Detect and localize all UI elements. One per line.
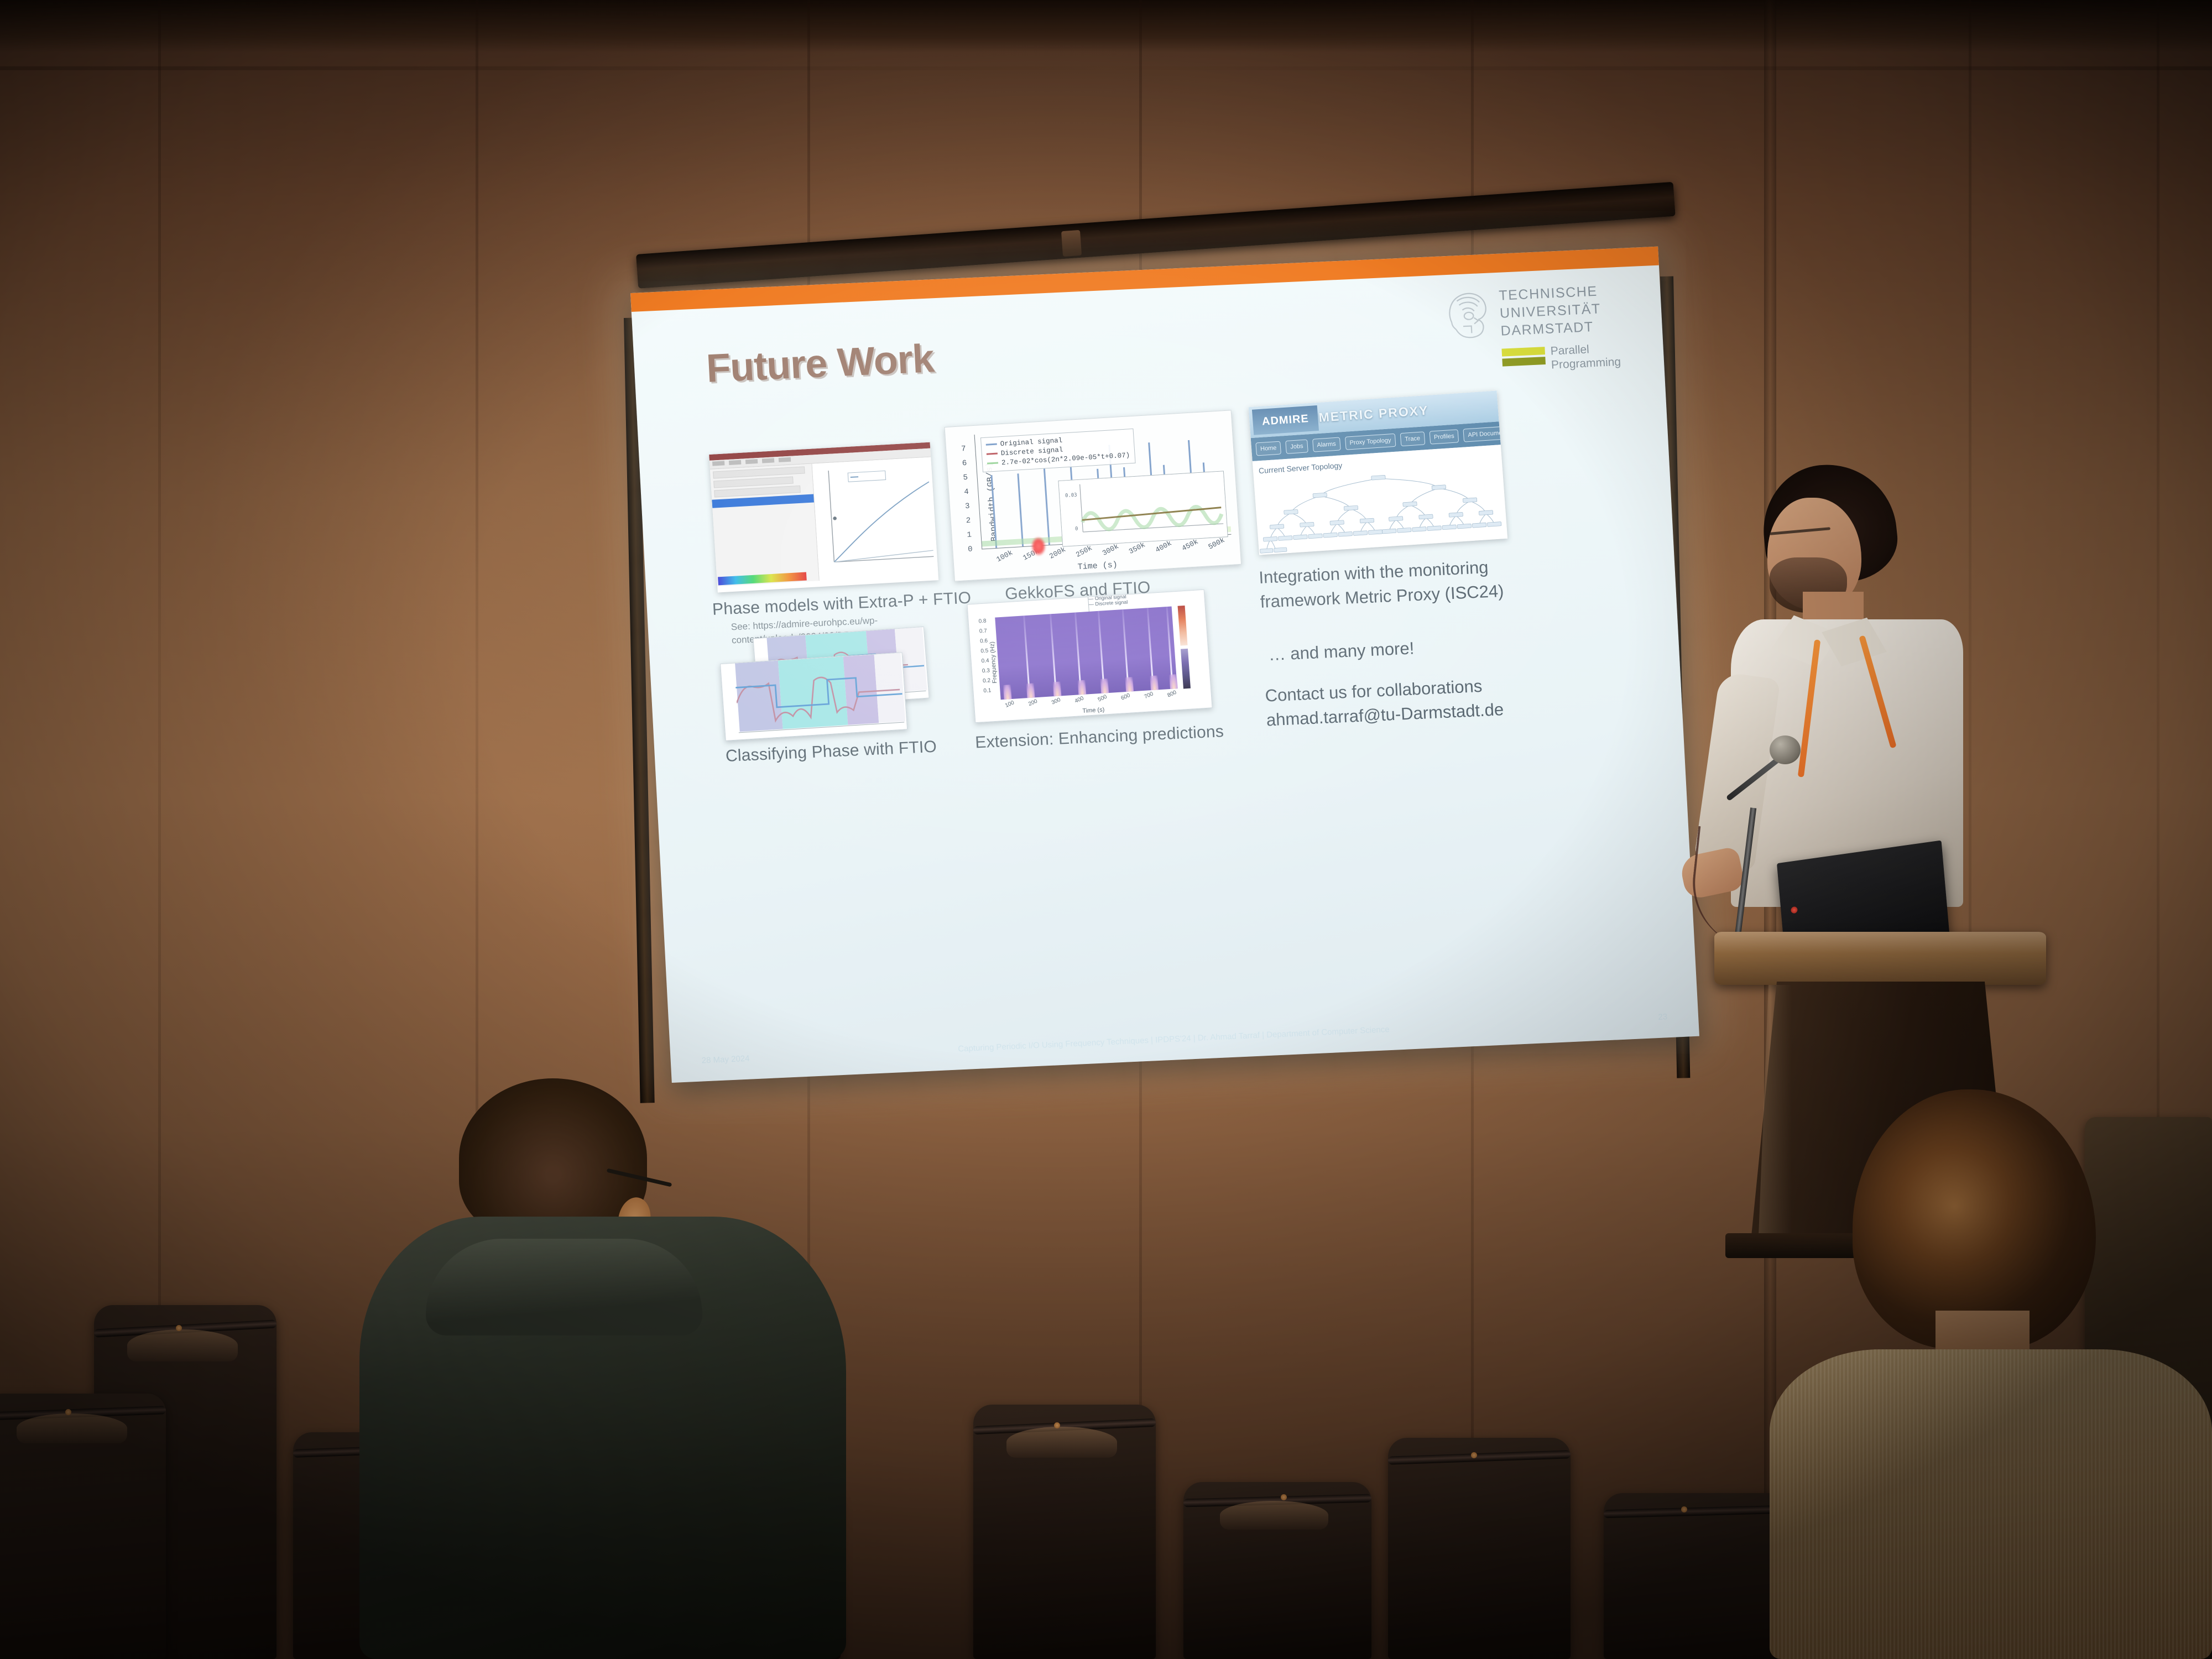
chart-legend: Original signal Discrete signal 2.7e-02*… xyxy=(980,429,1135,472)
pp-text: Parallel Programming xyxy=(1550,341,1621,372)
nav-trace[interactable]: Trace xyxy=(1400,431,1425,446)
chair-backrest-gap xyxy=(1220,1501,1328,1530)
caption-extrap: Phase models with Extra-P + FTIO xyxy=(712,589,972,619)
caption-extension: Extension: Enhancing predictions xyxy=(975,722,1224,752)
pp-line-2: Programming xyxy=(1551,355,1621,372)
microphone-icon xyxy=(1770,735,1801,764)
chair-stud xyxy=(176,1325,182,1331)
audience-member-left xyxy=(343,1078,896,1659)
chair-backrest-gap xyxy=(17,1413,127,1443)
chair[interactable] xyxy=(1604,1493,1786,1659)
nav-proxy-topology[interactable]: Proxy Topology xyxy=(1345,434,1396,450)
right-column-contact: Contact us for collaborations ahmad.tarr… xyxy=(1265,673,1505,732)
chair-stud xyxy=(1681,1506,1687,1512)
extrap-plot xyxy=(812,457,938,581)
footer-center: Capturing Periodic I/O Using Frequency T… xyxy=(958,1025,1390,1053)
figure-extension-spectrogram: — Original signal — Discrete signal Freq… xyxy=(967,589,1212,723)
chair-stud xyxy=(1281,1494,1287,1500)
pp-bar-upper xyxy=(1501,347,1545,357)
laptop-power-led xyxy=(1791,906,1798,914)
chart-inset: 0.03 0 xyxy=(1058,471,1228,547)
projection-screen-assembly: TECHNISCHE UNIVERSITÄT DARMSTADT Paralle… xyxy=(630,260,1670,1123)
nav-jobs[interactable]: Jobs xyxy=(1286,439,1308,454)
audience-member-right xyxy=(1770,1089,2212,1659)
podium-top-surface xyxy=(1714,932,2046,985)
athena-head-icon xyxy=(1441,288,1495,343)
figure-classify-phase-front xyxy=(720,652,907,740)
svg-text:0.03: 0.03 xyxy=(1065,493,1077,499)
slide-footer: 28 May 2024 Capturing Periodic I/O Using… xyxy=(670,1011,1699,1074)
chair[interactable] xyxy=(1388,1438,1571,1659)
spectrogram-plot xyxy=(995,607,1177,700)
tu-wordmark: TECHNISCHE UNIVERSITÄT DARMSTADT xyxy=(1499,282,1603,340)
chair-backrest-gap xyxy=(127,1329,238,1361)
extrap-sidebar xyxy=(710,464,820,587)
extrap-colorbar xyxy=(718,572,807,585)
figure-extrap-gui xyxy=(709,442,938,593)
projected-slide: TECHNISCHE UNIVERSITÄT DARMSTADT Paralle… xyxy=(630,247,1699,1083)
wall-seam-horizontal xyxy=(0,66,2212,70)
pp-bar-lower xyxy=(1502,357,1546,367)
figure-gekkofs-chart: Bandwidth (GB/s) Time (s) 0 1 2 3 4 5 6 … xyxy=(945,410,1242,581)
chair-stud xyxy=(1471,1452,1477,1458)
chair-backrest-gap xyxy=(1006,1427,1117,1458)
spectrogram-colorbar-cool xyxy=(1181,649,1191,689)
server-topology-tree xyxy=(1254,466,1508,555)
tu-darmstadt-logo: TECHNISCHE UNIVERSITÄT DARMSTADT Paralle… xyxy=(1441,279,1645,382)
extrap-body xyxy=(710,457,938,587)
audience-left-collar xyxy=(426,1239,702,1335)
right-column-and-many-more: … and many more! xyxy=(1268,636,1415,667)
caption-classify: Classifying Phase with FTIO xyxy=(725,738,937,766)
metric-proxy-body: Current Server Topology xyxy=(1253,445,1507,555)
right-column-paragraph-1: Integration with the monitoring framewor… xyxy=(1258,555,1504,614)
nav-profiles[interactable]: Profiles xyxy=(1429,429,1459,444)
slide-title: Future Work xyxy=(705,336,935,392)
pp-bars-icon xyxy=(1501,347,1546,368)
figure-metric-proxy: ADMIRE METRIC PROXY Home Jobs Alarms Pro… xyxy=(1249,390,1508,555)
tu-line-3: DARMSTADT xyxy=(1500,317,1602,340)
nav-alarms[interactable]: Alarms xyxy=(1312,437,1341,452)
spectrogram-colorbar-warm xyxy=(1178,606,1188,646)
slide-content: TECHNISCHE UNIVERSITÄT DARMSTADT Paralle… xyxy=(632,265,1699,1083)
svg-text:0: 0 xyxy=(1075,526,1078,532)
footer-date: 28 May 2024 xyxy=(701,1054,750,1066)
audience-right-knit-texture xyxy=(1770,1349,2212,1659)
microphone-cable xyxy=(1686,826,1770,949)
nav-api-documentation[interactable]: API Documentation xyxy=(1463,425,1507,442)
screen-roller-knob xyxy=(1061,230,1082,257)
chart-plot-area: 0 1 2 3 4 5 6 7 100k 150k 200k 250k 300k… xyxy=(974,420,1232,549)
chair-stud xyxy=(1054,1422,1060,1428)
audience-right-sweater xyxy=(1770,1349,2212,1659)
chair-stud xyxy=(65,1409,71,1415)
ceiling-shadow xyxy=(0,0,2212,53)
nav-home[interactable]: Home xyxy=(1255,441,1281,456)
